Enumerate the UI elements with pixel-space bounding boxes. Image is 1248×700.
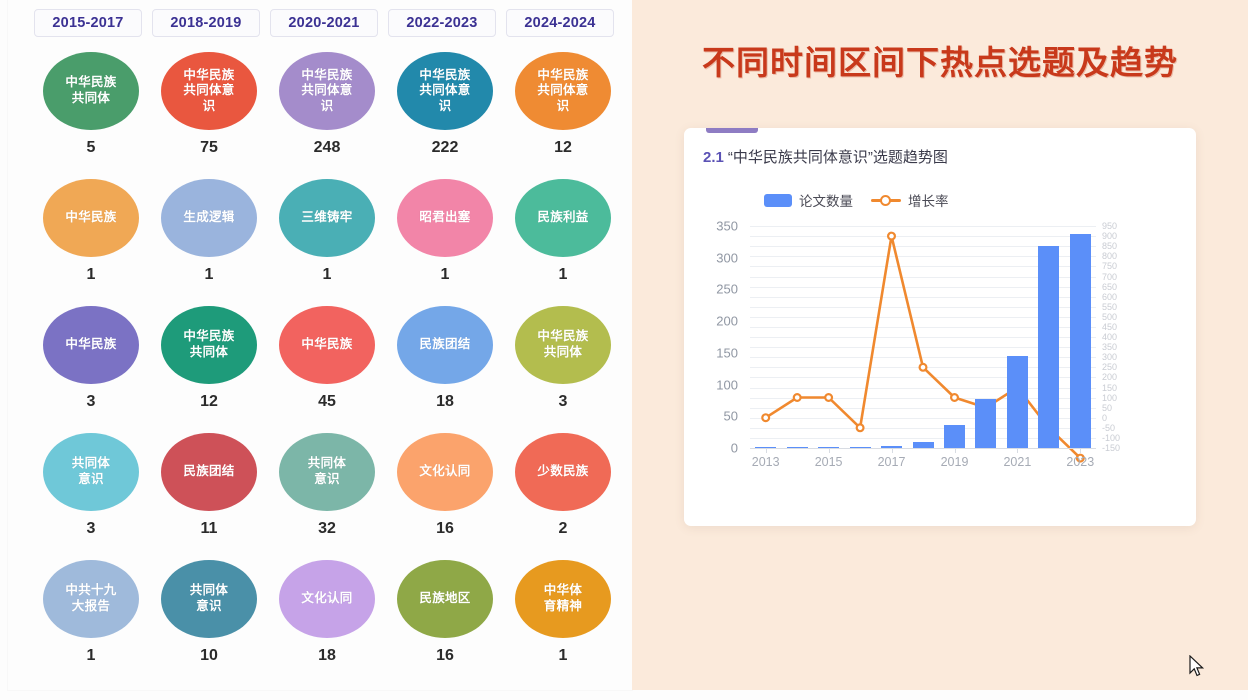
legend-item-papers[interactable]: 论文数量 <box>764 190 853 210</box>
topic-bubble-count: 5 <box>87 139 96 157</box>
y-axis-right-tick: -50 <box>1102 423 1115 433</box>
topic-bubble-count: 16 <box>436 520 454 538</box>
topic-bubble-label: 中共十九大报告 <box>65 583 116 614</box>
topic-bubble[interactable]: 中华民族共同体意识 <box>397 52 493 130</box>
y-axis-right-tick: 650 <box>1102 282 1117 292</box>
topic-bubble-count: 18 <box>436 393 454 411</box>
bubble-cell: 中共十九大报告1 <box>32 560 150 687</box>
topic-bubble[interactable]: 民族团结 <box>161 433 257 511</box>
topic-bubble[interactable]: 民族地区 <box>397 560 493 638</box>
topic-bubble-label: 民族地区 <box>419 591 470 607</box>
y-axis-right-tick: 50 <box>1102 403 1112 413</box>
topic-bubble-label: 中华民族共同体意识 <box>183 68 234 115</box>
y-axis-right-tick: 0 <box>1102 413 1107 423</box>
bar-swatch-icon <box>764 194 792 207</box>
year-tab-2020-2021[interactable]: 2020-2021 <box>270 9 378 37</box>
topic-bubble-count: 1 <box>87 647 96 665</box>
chart-legend: 论文数量 增长率 <box>764 190 949 210</box>
topic-bubble-label: 共同体意识 <box>308 456 346 487</box>
bubble-cell: 中华民族45 <box>268 306 386 433</box>
topic-bubble-label: 生成逻辑 <box>183 210 234 226</box>
y-axis-right-tick: 550 <box>1102 302 1117 312</box>
topic-bubble-label: 中华民族共同体意识 <box>419 68 470 115</box>
y-axis-right-tick: 450 <box>1102 322 1117 332</box>
topic-bubble-count: 3 <box>87 520 96 538</box>
x-axis-tickmark <box>1080 448 1081 453</box>
x-axis-tickmark <box>892 448 893 453</box>
y-axis-right-tick: 250 <box>1102 362 1117 372</box>
topic-bubble-label: 共同体意识 <box>72 456 110 487</box>
growth-rate-point[interactable] <box>951 394 958 401</box>
growth-rate-point[interactable] <box>888 233 895 240</box>
bubble-cell: 中华民族共同体意识248 <box>268 52 386 179</box>
topic-bubble-count: 10 <box>200 647 218 665</box>
bubble-cell: 中华民族共同体意识222 <box>386 52 504 179</box>
x-axis-tickmark <box>829 448 830 453</box>
y-axis-right-tick: 950 <box>1102 221 1117 231</box>
y-axis-right-tick: -150 <box>1102 443 1120 453</box>
topic-bubble-count: 45 <box>318 393 336 411</box>
y-axis-right-tick: 850 <box>1102 241 1117 251</box>
growth-rate-point[interactable] <box>794 394 801 401</box>
trend-panel: 不同时间区间下热点选题及趋势 2.1“中华民族共同体意识”选题趋势图 论文数量 <box>632 0 1248 690</box>
legend-item-growth[interactable]: 增长率 <box>871 190 949 210</box>
y-axis-right-tick: 300 <box>1102 352 1117 362</box>
chart-card: 2.1“中华民族共同体意识”选题趋势图 论文数量 增长率 050100 <box>684 128 1196 526</box>
y-axis-right-tick: 800 <box>1102 251 1117 261</box>
topic-bubble-label: 中华民族共同体 <box>183 329 234 360</box>
topic-bubble-count: 3 <box>559 393 568 411</box>
topic-bubble[interactable]: 文化认同 <box>279 560 375 638</box>
y-axis-right-tick: 500 <box>1102 312 1117 322</box>
chart-heading: 2.1“中华民族共同体意识”选题趋势图 <box>703 146 948 167</box>
y-axis-left-tick: 300 <box>696 250 738 265</box>
topic-bubble-count: 1 <box>559 647 568 665</box>
topic-bubble[interactable]: 生成逻辑 <box>161 179 257 257</box>
topic-bubble-count: 1 <box>441 266 450 284</box>
y-axis-left-tick: 50 <box>696 409 738 424</box>
y-axis-right-tick: 350 <box>1102 342 1117 352</box>
topic-bubble-label: 中华民族 <box>65 210 116 226</box>
legend-label-papers: 论文数量 <box>799 190 853 210</box>
y-axis-right-tick: 400 <box>1102 332 1117 342</box>
y-axis-left: 050100150200250300350 <box>698 226 744 448</box>
bubble-cell: 共同体意识3 <box>32 433 150 560</box>
topic-bubble[interactable]: 中华民族共同体 <box>43 52 139 130</box>
bubble-cell: 昭君出塞1 <box>386 179 504 306</box>
topic-bubble[interactable]: 民族团结 <box>397 306 493 384</box>
topic-bubble-label: 昭君出塞 <box>419 210 470 226</box>
chart-bar[interactable] <box>1070 234 1091 448</box>
topic-bubble[interactable]: 三维铸牢 <box>279 179 375 257</box>
topic-bubble-count: 1 <box>87 266 96 284</box>
topic-bubble[interactable]: 中华民族 <box>279 306 375 384</box>
bubble-row: 中华民族共同体5中华民族共同体意识75中华民族共同体意识248中华民族共同体意识… <box>32 52 622 179</box>
bubble-row: 共同体意识3民族团结11共同体意识32文化认同16少数民族2 <box>32 433 622 560</box>
topic-bubble[interactable]: 中共十九大报告 <box>43 560 139 638</box>
topic-bubble-count: 1 <box>559 266 568 284</box>
page-title: 不同时间区间下热点选题及趋势 <box>654 36 1226 84</box>
topic-bubble-label: 中华民族共同体 <box>537 329 588 360</box>
y-axis-left-tick: 100 <box>696 377 738 392</box>
topic-bubble[interactable]: 中华体育精神 <box>515 560 611 638</box>
hot-topics-panel: 2015-20172018-20192020-20212022-20232024… <box>8 0 632 690</box>
bubble-cell: 文化认同18 <box>268 560 386 687</box>
year-tab-2022-2023[interactable]: 2022-2023 <box>388 9 496 37</box>
topic-bubble-label: 少数民族 <box>537 464 588 480</box>
topic-bubble-label: 中华民族共同体意识 <box>301 68 352 115</box>
topic-bubble[interactable]: 共同体意识 <box>279 433 375 511</box>
bubble-cell: 中华体育精神1 <box>504 560 622 687</box>
slide-root: 2015-20172018-20192020-20212022-20232024… <box>0 0 1248 700</box>
x-axis-line <box>750 448 1096 449</box>
topic-bubble-label: 共同体意识 <box>190 583 228 614</box>
growth-rate-point[interactable] <box>857 424 864 431</box>
topic-bubble-label: 文化认同 <box>419 464 470 480</box>
x-axis-tickmark <box>1017 448 1018 453</box>
topic-bubble-label: 中华民族 <box>301 337 352 353</box>
bubble-cell: 共同体意识32 <box>268 433 386 560</box>
topic-bubble-label: 民族团结 <box>183 464 234 480</box>
bubble-cell: 三维铸牢1 <box>268 179 386 306</box>
topic-bubble-grid: 中华民族共同体5中华民族共同体意识75中华民族共同体意识248中华民族共同体意识… <box>32 52 622 687</box>
topic-bubble-label: 民族利益 <box>537 210 588 226</box>
bubble-cell: 民族利益1 <box>504 179 622 306</box>
bubble-cell: 少数民族2 <box>504 433 622 560</box>
topic-bubble-count: 18 <box>318 647 336 665</box>
chart-bar[interactable] <box>944 425 965 448</box>
topic-bubble[interactable]: 共同体意识 <box>43 433 139 511</box>
y-axis-right-tick: 750 <box>1102 261 1117 271</box>
topic-bubble-count: 32 <box>318 520 336 538</box>
x-axis-tick-label: 2013 <box>752 455 780 469</box>
chart-area: 论文数量 增长率 050100150200250300350 -150-100-… <box>698 176 1184 514</box>
topic-bubble-label: 中华体育精神 <box>544 583 582 614</box>
topic-bubble-count: 16 <box>436 647 454 665</box>
x-axis-tickmark <box>766 448 767 453</box>
bubble-row: 中华民族3中华民族共同体12中华民族45民族团结18中华民族共同体3 <box>32 306 622 433</box>
topic-bubble-count: 222 <box>432 139 459 157</box>
chart-heading-number: 2.1 <box>703 149 724 166</box>
bubble-cell: 民族团结11 <box>150 433 268 560</box>
x-axis-tickmark <box>955 448 956 453</box>
x-axis-tick-label: 2023 <box>1066 455 1094 469</box>
topic-bubble-label: 民族团结 <box>419 337 470 353</box>
line-swatch-icon <box>871 194 901 206</box>
y-axis-left-tick: 150 <box>696 345 738 360</box>
y-axis-left-tick: 0 <box>696 441 738 456</box>
year-tab-2018-2019[interactable]: 2018-2019 <box>152 9 260 37</box>
topic-bubble-count: 2 <box>559 520 568 538</box>
bubble-row: 中共十九大报告1共同体意识10文化认同18民族地区16中华体育精神1 <box>32 560 622 687</box>
y-axis-right-tick: -100 <box>1102 433 1120 443</box>
x-axis-tick-label: 2019 <box>941 455 969 469</box>
topic-bubble-count: 1 <box>205 266 214 284</box>
y-axis-right-tick: 900 <box>1102 231 1117 241</box>
topic-bubble[interactable]: 中华民族共同体意识 <box>161 52 257 130</box>
y-axis-right-tick: 600 <box>1102 292 1117 302</box>
growth-rate-point[interactable] <box>825 394 832 401</box>
bubble-cell: 中华民族1 <box>32 179 150 306</box>
topic-bubble-count: 11 <box>201 520 218 538</box>
bubble-cell: 生成逻辑1 <box>150 179 268 306</box>
y-axis-right-tick: 200 <box>1102 372 1117 382</box>
bubble-row: 中华民族1生成逻辑1三维铸牢1昭君出塞1民族利益1 <box>32 179 622 306</box>
bubble-cell: 民族团结18 <box>386 306 504 433</box>
topic-bubble-count: 12 <box>554 139 572 157</box>
bubble-cell: 中华民族共同体3 <box>504 306 622 433</box>
chart-bar[interactable] <box>975 399 996 449</box>
topic-bubble-count: 1 <box>323 266 332 284</box>
y-axis-left-tick: 350 <box>696 219 738 234</box>
plot-area <box>750 226 1096 448</box>
chart-heading-text: “中华民族共同体意识”选题趋势图 <box>728 149 948 166</box>
x-axis-tick-label: 2017 <box>878 455 906 469</box>
bubble-cell: 民族地区16 <box>386 560 504 687</box>
growth-rate-point[interactable] <box>762 414 769 421</box>
topic-bubble[interactable]: 中华民族共同体意识 <box>279 52 375 130</box>
topic-bubble[interactable]: 少数民族 <box>515 433 611 511</box>
topic-bubble-count: 3 <box>87 393 96 411</box>
chart-bar[interactable] <box>1007 356 1028 448</box>
year-range-tabs: 2015-20172018-20192020-20212022-20232024… <box>34 9 614 37</box>
bubble-cell: 文化认同16 <box>386 433 504 560</box>
year-tab-2024-2024[interactable]: 2024-2024 <box>506 9 614 37</box>
bubble-cell: 中华民族共同体意识75 <box>150 52 268 179</box>
topic-bubble[interactable]: 中华民族 <box>43 306 139 384</box>
y-axis-left-tick: 200 <box>696 314 738 329</box>
topic-bubble[interactable]: 昭君出塞 <box>397 179 493 257</box>
topic-bubble[interactable]: 中华民族共同体意识 <box>515 52 611 130</box>
topic-bubble-label: 中华民族共同体 <box>65 75 116 106</box>
topic-bubble[interactable]: 共同体意识 <box>161 560 257 638</box>
topic-bubble-label: 文化认同 <box>301 591 352 607</box>
y-axis-right-tick: 700 <box>1102 272 1117 282</box>
y-axis-right-tick: 100 <box>1102 393 1117 403</box>
growth-rate-point[interactable] <box>920 364 927 371</box>
topic-bubble-count: 75 <box>200 139 218 157</box>
x-axis-tick-label: 2021 <box>1003 455 1031 469</box>
topic-bubble[interactable]: 中华民族 <box>43 179 139 257</box>
y-axis-right-tick: 150 <box>1102 383 1117 393</box>
card-accent-bar <box>706 128 758 133</box>
x-axis-tick-label: 2015 <box>815 455 843 469</box>
topic-bubble-label: 三维铸牢 <box>301 210 352 226</box>
topic-bubble-count: 12 <box>200 393 218 411</box>
legend-label-growth: 增长率 <box>908 190 949 210</box>
topic-bubble-label: 中华民族共同体意识 <box>537 68 588 115</box>
growth-rate-polyline <box>766 236 1081 458</box>
topic-bubble[interactable]: 中华民族共同体 <box>161 306 257 384</box>
chart-bar[interactable] <box>1038 246 1059 448</box>
topic-bubble-label: 中华民族 <box>65 337 116 353</box>
topic-bubble[interactable]: 文化认同 <box>397 433 493 511</box>
topic-bubble[interactable]: 民族利益 <box>515 179 611 257</box>
bubble-cell: 中华民族共同体5 <box>32 52 150 179</box>
y-axis-left-tick: 250 <box>696 282 738 297</box>
topic-bubble[interactable]: 中华民族共同体 <box>515 306 611 384</box>
bubble-cell: 中华民族共同体12 <box>150 306 268 433</box>
bubble-cell: 中华民族3 <box>32 306 150 433</box>
bubble-cell: 中华民族共同体意识12 <box>504 52 622 179</box>
bubble-cell: 共同体意识10 <box>150 560 268 687</box>
year-tab-2015-2017[interactable]: 2015-2017 <box>34 9 142 37</box>
y-axis-right: -150-100-5005010015020025030035040045050… <box>1098 226 1158 448</box>
topic-bubble-count: 248 <box>314 139 341 157</box>
